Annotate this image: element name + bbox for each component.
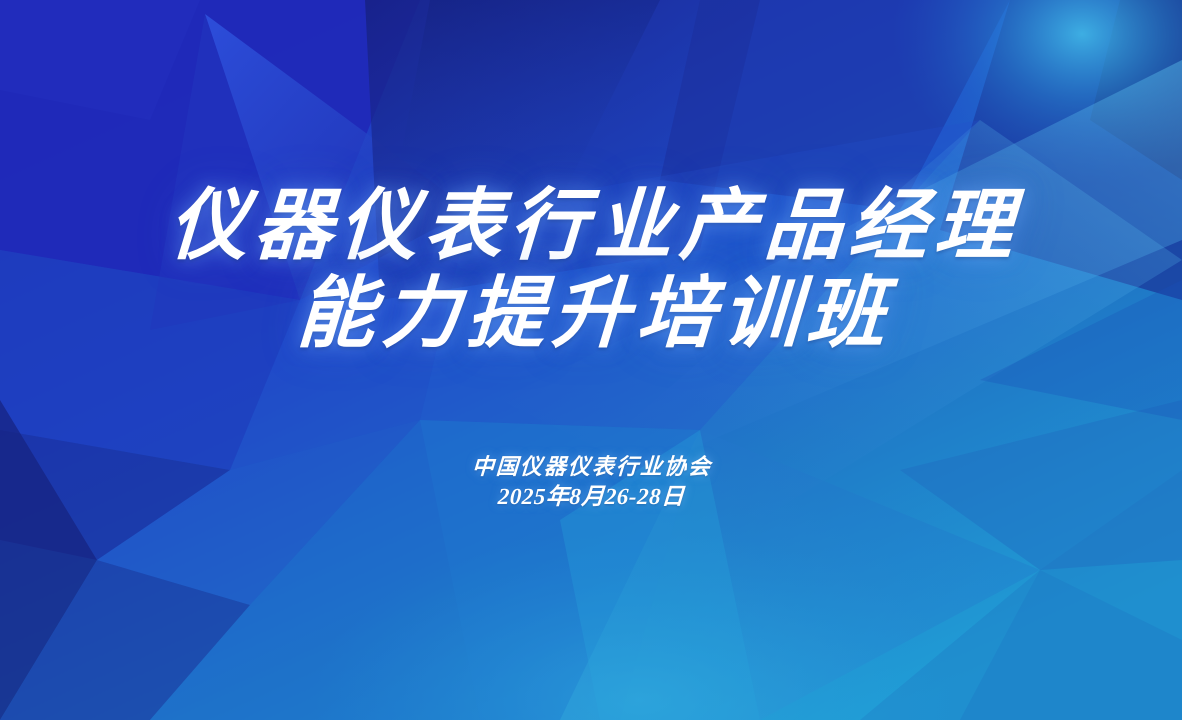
poster-title: 仪器仪表行业产品经理 能力提升培训班 (0, 182, 1182, 358)
poster-subtitle: 中国仪器仪表行业协会 2025年8月26-28日 (0, 452, 1182, 512)
title-line-1: 仪器仪表行业产品经理 (0, 182, 1182, 270)
title-line-2: 能力提升培训班 (0, 270, 1182, 358)
poster-canvas: 仪器仪表行业产品经理 能力提升培训班 中国仪器仪表行业协会 2025年8月26-… (0, 0, 1182, 720)
organizer-name: 中国仪器仪表行业协会 (0, 452, 1182, 482)
poster-content: 仪器仪表行业产品经理 能力提升培训班 中国仪器仪表行业协会 2025年8月26-… (0, 0, 1182, 720)
event-dates: 2025年8月26-28日 (0, 482, 1182, 512)
